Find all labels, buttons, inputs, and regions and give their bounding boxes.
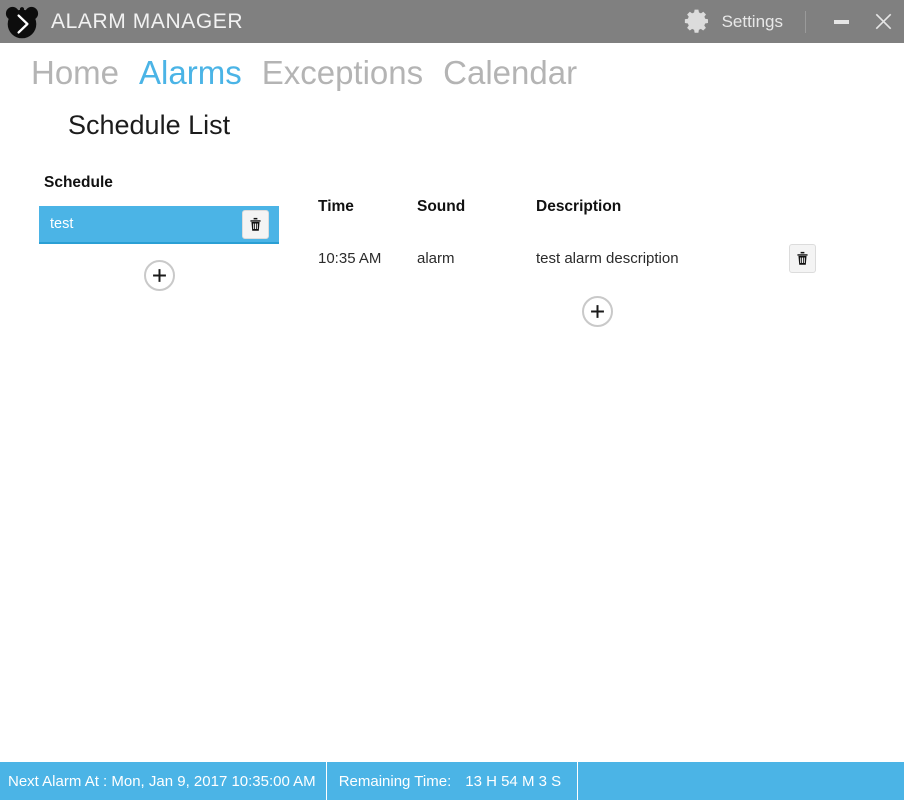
add-alarm-button[interactable]	[582, 296, 613, 327]
schedule-panel: Schedule test	[39, 174, 279, 291]
close-icon	[874, 12, 893, 31]
alarm-clock-icon	[0, 0, 43, 43]
schedule-list-item[interactable]: test	[39, 206, 279, 244]
trash-icon	[795, 250, 810, 266]
close-button[interactable]	[862, 0, 904, 43]
status-remaining-value: 13 H 54 M 3 S	[465, 762, 578, 800]
page-title: Schedule List	[68, 110, 230, 141]
header-time: Time	[318, 198, 412, 238]
cell-time: 10:35 AM	[318, 238, 412, 278]
schedule-item-label: test	[50, 216, 242, 232]
header-actions	[758, 198, 828, 238]
minimize-button[interactable]	[820, 0, 862, 43]
cell-actions	[758, 238, 828, 278]
cell-description: test alarm description	[534, 238, 758, 278]
delete-schedule-button[interactable]	[242, 210, 269, 239]
plus-icon	[151, 267, 168, 284]
gear-icon	[683, 7, 713, 37]
add-schedule-button[interactable]	[144, 260, 175, 291]
schedule-list: test	[39, 206, 279, 244]
alarm-table-body: 10:35 AM alarm test alarm description	[318, 238, 828, 278]
tab-alarms[interactable]: Alarms	[139, 52, 242, 93]
settings-label: Settings	[722, 12, 783, 32]
status-next-alarm: Next Alarm At : Mon, Jan 9, 2017 10:35:0…	[0, 762, 327, 800]
header-sound: Sound	[412, 198, 534, 238]
minimize-icon	[834, 20, 849, 24]
add-alarm-wrapper	[318, 296, 828, 327]
status-bar-filler	[578, 762, 904, 800]
tab-calendar[interactable]: Calendar	[443, 52, 577, 93]
title-bar: ALARM MANAGER Settings	[0, 0, 904, 43]
header-description: Description	[534, 198, 758, 238]
alarm-table-row[interactable]: 10:35 AM alarm test alarm description	[318, 238, 828, 278]
cell-sound: alarm	[412, 238, 534, 278]
alarm-panel: Time Sound Description 10:35 AM alarm te…	[318, 198, 828, 327]
alarm-table-head: Time Sound Description	[318, 198, 828, 238]
tab-home[interactable]: Home	[31, 52, 119, 93]
tab-exceptions[interactable]: Exceptions	[262, 52, 423, 93]
app-title: ALARM MANAGER	[51, 10, 243, 34]
add-schedule-wrapper	[39, 260, 279, 291]
content-area: Schedule List Schedule test	[0, 93, 904, 762]
titlebar-divider	[805, 11, 806, 33]
trash-icon	[248, 216, 263, 232]
schedule-column-header: Schedule	[39, 174, 279, 192]
plus-icon	[589, 303, 606, 320]
alarm-table: Time Sound Description 10:35 AM alarm te…	[318, 198, 828, 278]
delete-alarm-button[interactable]	[789, 244, 816, 273]
alarm-manager-window: ALARM MANAGER Settings Home Alarms Excep…	[0, 0, 904, 800]
alarm-table-header-row: Time Sound Description	[318, 198, 828, 238]
status-bar: Next Alarm At : Mon, Jan 9, 2017 10:35:0…	[0, 762, 904, 800]
main-navigation: Home Alarms Exceptions Calendar	[0, 43, 904, 93]
status-remaining-label: Remaining Time:	[327, 762, 466, 800]
settings-button[interactable]: Settings	[683, 7, 783, 37]
